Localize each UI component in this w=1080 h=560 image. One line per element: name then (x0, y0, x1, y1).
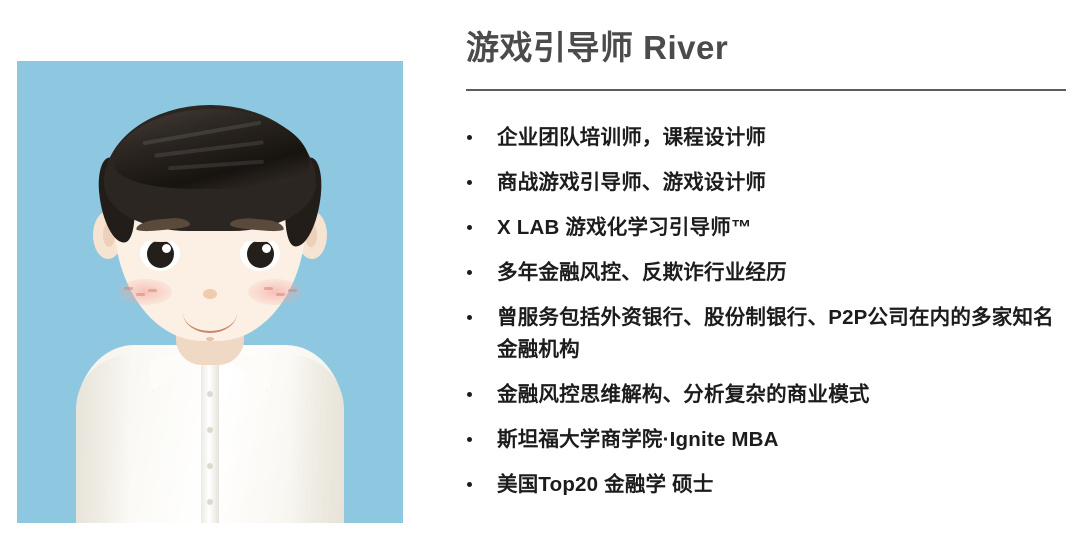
eye-right (240, 237, 280, 271)
shirt-button (207, 427, 213, 433)
list-item: X LAB 游戏化学习引导师™ (466, 212, 1066, 244)
list-item: 曾服务包括外资银行、股份制银行、P2P公司在内的多家知名金融机构 (466, 302, 1066, 366)
shirt-shadow-right (290, 355, 344, 523)
avatar-illustration (17, 61, 403, 523)
bullet-dot-icon (467, 180, 472, 185)
credentials-list: 企业团队培训师，课程设计师 商战游戏引导师、游戏设计师 X LAB 游戏化学习引… (466, 122, 1066, 514)
eyelid-right (240, 237, 280, 242)
freckle (148, 289, 157, 292)
blush-left (118, 279, 172, 305)
nose (203, 289, 217, 299)
eyelid-left (140, 237, 180, 242)
chin-dimple (206, 337, 214, 341)
iris-right (247, 240, 274, 268)
shirt-button (207, 463, 213, 469)
profile-content: 游戏引导师 River 企业团队培训师，课程设计师 商战游戏引导师、游戏设计师 … (466, 0, 1066, 560)
bullet-dot-icon (467, 437, 472, 442)
list-item-label: 曾服务包括外资银行、股份制银行、P2P公司在内的多家知名金融机构 (497, 306, 1054, 361)
freckle (288, 289, 297, 292)
freckle (276, 293, 285, 296)
list-item-label: 企业团队培训师，课程设计师 (497, 126, 766, 149)
shirt-button (207, 391, 213, 397)
bullet-dot-icon (467, 270, 472, 275)
list-item-label: 金融风控思维解构、分析复杂的商业模式 (497, 383, 870, 406)
list-item-label: X LAB 游戏化学习引导师™ (497, 216, 752, 239)
freckle (264, 287, 273, 290)
list-item-label: 多年金融风控、反欺诈行业经历 (497, 261, 787, 284)
list-item: 企业团队培训师，课程设计师 (466, 122, 1066, 154)
list-item: 多年金融风控、反欺诈行业经历 (466, 257, 1066, 289)
bullet-dot-icon (467, 392, 472, 397)
profile-slide: 游戏引导师 River 企业团队培训师，课程设计师 商战游戏引导师、游戏设计师 … (0, 0, 1080, 560)
eye-highlight-right (262, 244, 271, 253)
freckle (136, 293, 145, 296)
list-item: 美国Top20 金融学 硕士 (466, 469, 1066, 501)
blush-right (248, 279, 302, 305)
page-title: 游戏引导师 River (466, 28, 728, 68)
title-divider (466, 89, 1066, 91)
freckle (124, 287, 133, 290)
bullet-dot-icon (467, 315, 472, 320)
hair-strand (168, 160, 264, 171)
shirt-button (207, 499, 213, 505)
list-item: 斯坦福大学商学院·Ignite MBA (466, 424, 1066, 456)
iris-left (147, 240, 174, 268)
bullet-dot-icon (467, 225, 472, 230)
avatar-photo (17, 61, 403, 523)
shirt (76, 345, 344, 523)
eye-highlight-left (162, 244, 171, 253)
bullet-dot-icon (467, 135, 472, 140)
list-item: 金融风控思维解构、分析复杂的商业模式 (466, 379, 1066, 411)
list-item: 商战游戏引导师、游戏设计师 (466, 167, 1066, 199)
eye-left (140, 237, 180, 271)
shirt-shadow-left (76, 355, 130, 523)
hair-strand (154, 140, 264, 157)
list-item-label: 商战游戏引导师、游戏设计师 (497, 171, 766, 194)
list-item-label: 斯坦福大学商学院·Ignite MBA (497, 428, 779, 451)
list-item-label: 美国Top20 金融学 硕士 (497, 473, 714, 496)
bullet-dot-icon (467, 482, 472, 487)
